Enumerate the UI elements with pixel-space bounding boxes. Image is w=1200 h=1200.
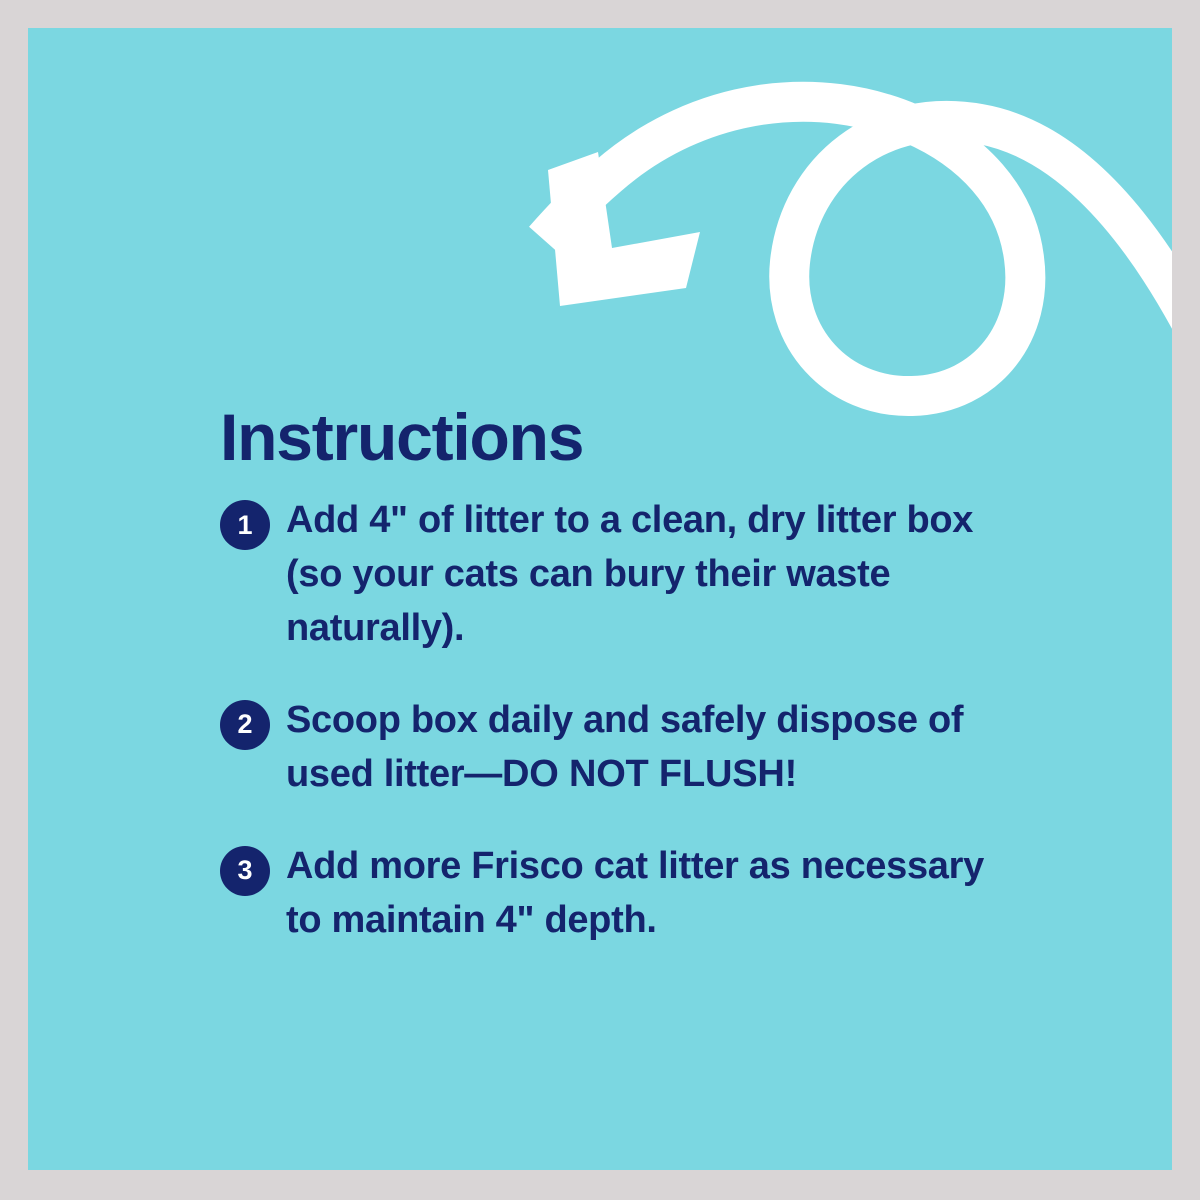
list-item: 1 Add 4" of litter to a clean, dry litte… <box>220 494 1020 656</box>
step-text: Add more Frisco cat litter as necessary … <box>286 840 986 948</box>
step-number-badge: 2 <box>220 700 270 750</box>
step-text-lead: Add more Frisco cat litter as necessary … <box>286 845 984 941</box>
instructions-content: Instructions 1 Add 4" of litter to a cle… <box>220 404 1020 948</box>
step-text-emphasis: DO NOT FLUSH! <box>502 753 797 795</box>
step-text-lead: Add 4" of litter to a clean, dry litter … <box>286 499 973 649</box>
step-text: Scoop box daily and safely dispose of us… <box>286 694 986 802</box>
teal-panel: Instructions 1 Add 4" of litter to a cle… <box>28 28 1172 1170</box>
step-number-badge: 1 <box>220 500 270 550</box>
list-item: 2 Scoop box daily and safely dispose of … <box>220 694 1020 802</box>
instructions-card-page: Instructions 1 Add 4" of litter to a cle… <box>0 0 1200 1200</box>
list-item: 3 Add more Frisco cat litter as necessar… <box>220 840 1020 948</box>
page-title: Instructions <box>220 404 1020 470</box>
step-text: Add 4" of litter to a clean, dry litter … <box>286 494 986 656</box>
step-number-badge: 3 <box>220 846 270 896</box>
curved-loop-arrow-icon <box>28 28 1172 448</box>
instruction-steps-list: 1 Add 4" of litter to a clean, dry litte… <box>220 494 1020 948</box>
